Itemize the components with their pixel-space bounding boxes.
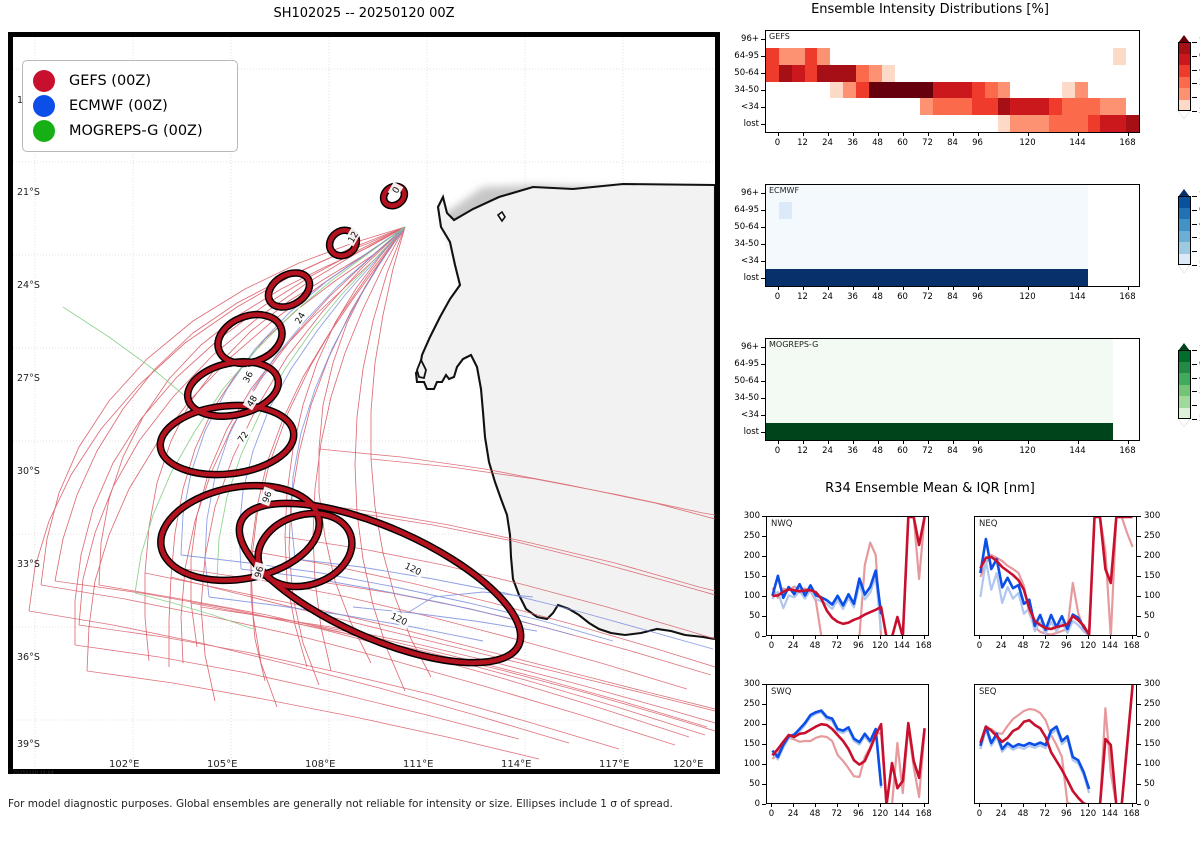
heatmap-cell: [895, 236, 908, 253]
r34-x-tick: [1110, 804, 1111, 807]
heatmap-cell: [1113, 115, 1126, 132]
colorbar-tick: [1192, 83, 1197, 84]
heatmap-cell: [998, 31, 1011, 48]
generation-timestamp: 20250120 14:04: [13, 771, 54, 776]
heatmap-x-tick: [1128, 287, 1129, 290]
heatmap-y-label: 50-64: [734, 222, 759, 232]
r34-x-label: 72: [1039, 641, 1050, 651]
heatmap-cell: [895, 219, 908, 236]
heatmap-cell: [1023, 65, 1036, 82]
r34-y-label: 250: [734, 699, 760, 709]
heatmap-cell: [895, 82, 908, 99]
heatmap-cell: [1062, 339, 1075, 356]
legend-label-ecmwf: ECMWF (00Z): [69, 98, 168, 114]
r34-y-label: 100: [1144, 759, 1160, 769]
heatmap-cell: [1126, 406, 1139, 423]
heatmap-cell: [1113, 406, 1126, 423]
legend-label-gefs: GEFS (00Z): [69, 73, 151, 89]
heatmap-y-tick: [761, 56, 765, 57]
colorbar-tick: [1192, 251, 1197, 252]
heatmap-plot-area[interactable]: MOGREPS-G: [765, 338, 1140, 441]
heatmap-cell: [1036, 48, 1049, 65]
r34-x-label: 96: [1061, 641, 1072, 651]
r34-panel-seq[interactable]: SEQ050100150200250300024487296120144168: [962, 676, 1187, 841]
r34-y-label: 300: [734, 679, 760, 689]
heatmap-cell: [907, 185, 920, 202]
heatmap-cell: [856, 406, 869, 423]
heatmap-cell: [907, 48, 920, 65]
heatmap-cell: [882, 390, 895, 407]
heatmap-cell: [1010, 356, 1023, 373]
heatmap-cell-grid: [766, 185, 1139, 286]
heatmap-cell: [1049, 115, 1062, 132]
heatmap-cell: [805, 423, 818, 440]
heatmap-cell: [959, 31, 972, 48]
heatmap-x-tick: [1078, 441, 1079, 444]
r34-x-label: 96: [1061, 809, 1072, 819]
colorbar-tick: [1192, 378, 1197, 379]
heatmap-cell: [830, 406, 843, 423]
heatmap-x-tick: [1028, 287, 1029, 290]
heatmap-cell: [959, 406, 972, 423]
heatmap-panel-gefs[interactable]: GEFS96+64-9550-6434-50<34lost01224364860…: [730, 28, 1190, 158]
heatmap-cell: [1126, 185, 1139, 202]
heatmap-colorbar: 51530456075: [1178, 36, 1200, 121]
heatmap-cell: [998, 65, 1011, 82]
heatmap-cell: [1126, 339, 1139, 356]
heatmap-cell: [869, 115, 882, 132]
heatmap-cell: [946, 236, 959, 253]
heatmap-cell: [1036, 269, 1049, 286]
heatmap-cell: [920, 48, 933, 65]
heatmap-cell: [1049, 236, 1062, 253]
r34-x-label: 120: [1080, 641, 1096, 651]
colorbar-tick: [1192, 42, 1197, 43]
r34-series-canvas: [767, 517, 929, 636]
heatmap-cell: [1010, 115, 1023, 132]
r34-quadrant-label: SWQ: [771, 687, 792, 697]
heatmap-x-label: 168: [1119, 446, 1135, 456]
heatmap-cell: [946, 390, 959, 407]
heatmap-cell: [1113, 219, 1126, 236]
heatmap-x-tick: [878, 441, 879, 444]
heatmap-cell: [817, 82, 830, 99]
colorbar-segment: [1178, 254, 1191, 266]
heatmap-cell: [1113, 236, 1126, 253]
heatmap-cell: [920, 236, 933, 253]
colorbar-segment: [1178, 88, 1191, 100]
r34-y-tick: [762, 704, 766, 705]
heatmap-plot-area[interactable]: ECMWF: [765, 184, 1140, 287]
heatmap-cell: [972, 202, 985, 219]
heatmap-y-label: 34-50: [734, 85, 759, 95]
heatmap-cell: [933, 390, 946, 407]
heatmap-cell: [959, 202, 972, 219]
heatmap-plot-area[interactable]: GEFS: [765, 30, 1140, 133]
r34-y-label: 200: [1144, 551, 1160, 561]
heatmap-cell: [998, 373, 1011, 390]
heatmap-cell: [1088, 390, 1101, 407]
r34-y-tick: [762, 684, 766, 685]
heatmap-cell: [1100, 269, 1113, 286]
r34-x-label: 24: [788, 641, 799, 651]
r34-x-label: 48: [1017, 809, 1028, 819]
lat-label-33s: 33°S: [17, 559, 40, 570]
heatmap-cell: [907, 339, 920, 356]
heatmap-panel-ecmwf[interactable]: ECMWF96+64-9550-6434-50<34lost0122436486…: [730, 182, 1190, 312]
heatmap-cell: [1126, 48, 1139, 65]
heatmap-x-label: 0: [775, 138, 780, 148]
r34-plot-area[interactable]: NEQ: [974, 516, 1137, 636]
heatmap-y-tick: [761, 124, 765, 125]
heatmap-cell: [1126, 98, 1139, 115]
heatmap-x-label: 144: [1069, 138, 1085, 148]
heatmap-cell: [817, 185, 830, 202]
r34-plot-area[interactable]: SEQ: [974, 684, 1137, 804]
heatmap-cell: [792, 236, 805, 253]
r34-series-line: [772, 711, 881, 786]
page-title: SH102025 -- 20250120 00Z: [0, 6, 728, 21]
r34-plot-area[interactable]: SWQ: [766, 684, 929, 804]
heatmap-cell: [1126, 219, 1139, 236]
r34-panel-swq[interactable]: SWQ050100150200250300024487296120144168: [732, 676, 957, 841]
heatmap-cell: [1113, 339, 1126, 356]
heatmap-cell: [933, 48, 946, 65]
r34-y-label: 300: [734, 511, 760, 521]
colorbar-tick: [1192, 210, 1197, 211]
r34-panel-nwq[interactable]: NWQ050100150200250300024487296120144168: [732, 508, 957, 673]
heatmap-cell: [895, 115, 908, 132]
heatmap-cell: [869, 423, 882, 440]
legend-item-gefs[interactable]: GEFS (00Z): [33, 68, 227, 93]
heatmap-cell: [1049, 65, 1062, 82]
heatmap-cell: [998, 423, 1011, 440]
heatmap-model-label: GEFS: [769, 32, 790, 41]
heatmap-cell: [817, 31, 830, 48]
heatmap-cell: [843, 269, 856, 286]
r34-series-line: [980, 517, 1132, 636]
heatmap-x-label: 36: [847, 446, 858, 456]
heatmap-cell: [779, 82, 792, 99]
heatmap-cell: [1062, 98, 1075, 115]
colorbar-tick: [1192, 237, 1197, 238]
heatmap-cell: [1062, 48, 1075, 65]
heatmap-cell: [1010, 31, 1023, 48]
heatmap-cell: [817, 219, 830, 236]
heatmap-cell: [1100, 252, 1113, 269]
heatmap-cell: [1100, 373, 1113, 390]
r34-y-tick: [762, 536, 766, 537]
heatmap-cell: [1075, 269, 1088, 286]
heatmap-y-label: <34: [741, 256, 759, 266]
heatmap-cell: [933, 252, 946, 269]
heatmap-cell: [895, 252, 908, 269]
heatmap-cell: [792, 31, 805, 48]
r34-quadrant-label: SEQ: [979, 687, 996, 697]
heatmap-cell: [1036, 406, 1049, 423]
heatmap-x-label: 96: [972, 446, 983, 456]
heatmap-cell: [946, 219, 959, 236]
heatmap-cell: [1113, 390, 1126, 407]
r34-x-tick: [793, 636, 794, 639]
heatmap-cell: [1023, 356, 1036, 373]
heatmap-cell: [792, 219, 805, 236]
heatmap-cell: [1088, 423, 1101, 440]
heatmap-cell: [817, 269, 830, 286]
heatmap-cell: [933, 219, 946, 236]
heatmap-cell: [882, 252, 895, 269]
heatmap-cell: [985, 406, 998, 423]
heatmap-cell: [985, 98, 998, 115]
heatmap-cell: [843, 185, 856, 202]
r34-y-label: 250: [734, 531, 760, 541]
lat-label-24s: 24°S: [17, 280, 40, 291]
heatmap-cell: [985, 115, 998, 132]
heatmap-cell: [817, 390, 830, 407]
heatmap-y-label: 64-95: [734, 359, 759, 369]
heatmap-cell: [817, 252, 830, 269]
heatmap-cell-grid: [766, 339, 1139, 440]
heatmap-cell: [882, 65, 895, 82]
heatmap-cell: [985, 236, 998, 253]
heatmap-cell: [1126, 82, 1139, 99]
heatmap-cell: [766, 202, 779, 219]
legend-item-mogreps[interactable]: MOGREPS-G (00Z): [33, 118, 227, 143]
heatmap-cell: [1049, 31, 1062, 48]
colorbar-under-arrow: [1178, 265, 1190, 273]
r34-y-label: 0: [1144, 799, 1149, 809]
heatmap-x-label: 36: [847, 138, 858, 148]
heatmap-cell: [920, 406, 933, 423]
heatmap-cell: [998, 202, 1011, 219]
heatmap-cell: [1113, 98, 1126, 115]
r34-y-tick: [762, 596, 766, 597]
heatmap-cell: [856, 98, 869, 115]
heatmap-cell: [830, 390, 843, 407]
heatmap-cell: [1036, 219, 1049, 236]
heatmap-cell: [1010, 423, 1023, 440]
heatmap-cell: [1088, 98, 1101, 115]
heatmap-cell: [985, 390, 998, 407]
r34-x-tick: [837, 804, 838, 807]
heatmap-cell: [805, 219, 818, 236]
heatmap-cell: [779, 269, 792, 286]
r34-x-label: 144: [1102, 641, 1118, 651]
heatmap-cell: [1049, 423, 1062, 440]
heatmap-cell: [1010, 185, 1023, 202]
heatmap-cell: [920, 185, 933, 202]
heatmap-cell: [869, 31, 882, 48]
heatmap-cell: [817, 236, 830, 253]
heatmap-cell: [1023, 406, 1036, 423]
heatmap-cell: [920, 373, 933, 390]
heatmap-x-label: 12: [797, 292, 808, 302]
r34-x-label: 72: [831, 809, 842, 819]
heatmap-cell: [1088, 269, 1101, 286]
r34-series-line: [980, 730, 1089, 793]
heatmap-panel-mogreps[interactable]: MOGREPS-G96+64-9550-6434-50<34lost012243…: [730, 336, 1190, 466]
r34-x-label: 24: [788, 809, 799, 819]
colorbar-segment: [1178, 231, 1191, 243]
heatmap-cell: [882, 219, 895, 236]
r34-x-tick: [1066, 636, 1067, 639]
heatmap-cell: [933, 269, 946, 286]
heatmap-x-label: 120: [1019, 292, 1035, 302]
heatmap-cell: [1088, 356, 1101, 373]
colorbar-segment: [1178, 77, 1191, 89]
heatmap-cell: [1023, 339, 1036, 356]
heatmap-cell: [972, 252, 985, 269]
heatmap-colorbar: 51530456075: [1178, 344, 1200, 429]
heatmap-cell: [1113, 252, 1126, 269]
heatmap-x-tick: [853, 287, 854, 290]
heatmap-cell: [972, 406, 985, 423]
heatmap-x-label: 72: [922, 446, 933, 456]
heatmap-cell: [946, 373, 959, 390]
colorbar-segment: [1178, 350, 1191, 362]
r34-panel-neq[interactable]: NEQ050100150200250300024487296120144168: [962, 508, 1187, 673]
heatmap-cell: [946, 65, 959, 82]
heatmap-cell: [830, 98, 843, 115]
heatmap-x-label: 24: [822, 446, 833, 456]
heatmap-cell: [1023, 236, 1036, 253]
heatmap-cell: [933, 115, 946, 132]
heatmap-cell: [1088, 202, 1101, 219]
heatmap-cell: [843, 65, 856, 82]
r34-x-tick: [1132, 804, 1133, 807]
heatmap-cell: [946, 31, 959, 48]
r34-series-line: [772, 712, 881, 788]
gefs-color-swatch: [33, 70, 55, 92]
heatmap-cell: [766, 48, 779, 65]
heatmap-cell: [895, 269, 908, 286]
heatmap-cell: [1036, 423, 1049, 440]
heatmap-x-label: 96: [972, 292, 983, 302]
heatmap-cell: [985, 423, 998, 440]
heatmap-cell: [882, 236, 895, 253]
heatmap-cell: [920, 31, 933, 48]
heatmap-cell: [1010, 252, 1023, 269]
heatmap-cell: [1100, 219, 1113, 236]
heatmap-cell: [985, 356, 998, 373]
heatmap-cell: [869, 339, 882, 356]
heatmap-cell: [830, 185, 843, 202]
r34-x-label: 48: [1017, 641, 1028, 651]
heatmap-cell: [1049, 373, 1062, 390]
heatmap-cell: [817, 356, 830, 373]
heatmap-cell: [830, 269, 843, 286]
heatmap-cell: [1126, 252, 1139, 269]
r34-y-label: 150: [734, 571, 760, 581]
r34-y-tick: [762, 784, 766, 785]
heatmap-cell: [895, 185, 908, 202]
heatmap-cell: [805, 31, 818, 48]
heatmap-cell: [805, 48, 818, 65]
heatmap-x-tick: [828, 287, 829, 290]
r34-quadrant-label: NWQ: [771, 519, 792, 529]
heatmap-cell: [856, 185, 869, 202]
heatmap-x-tick: [953, 441, 954, 444]
heatmap-cell: [856, 202, 869, 219]
heatmap-x-label: 72: [922, 292, 933, 302]
r34-x-tick: [924, 636, 925, 639]
heatmap-cell: [946, 202, 959, 219]
heatmap-cell: [1075, 48, 1088, 65]
colorbar-tick: [1192, 111, 1197, 112]
r34-x-tick: [1001, 636, 1002, 639]
heatmap-cell: [817, 406, 830, 423]
r34-y-label: 200: [734, 551, 760, 561]
heatmap-cell: [1088, 236, 1101, 253]
colorbar-segment: [1178, 362, 1191, 374]
heatmap-cell: [1075, 236, 1088, 253]
heatmap-cell: [920, 269, 933, 286]
r34-x-label: 72: [831, 641, 842, 651]
colorbar-tick: [1192, 56, 1197, 57]
heatmap-cell: [1100, 202, 1113, 219]
heatmap-cell: [946, 406, 959, 423]
heatmap-cell: [895, 390, 908, 407]
heatmap-cell: [1075, 373, 1088, 390]
heatmap-cell: [843, 339, 856, 356]
heatmap-cell: [882, 373, 895, 390]
heatmap-cell: [1010, 236, 1023, 253]
heatmap-colorbar: 51530456075: [1178, 190, 1200, 275]
heatmap-cell: [1113, 31, 1126, 48]
r34-plot-area[interactable]: NWQ: [766, 516, 929, 636]
heatmap-cell: [882, 269, 895, 286]
heatmap-cell: [985, 185, 998, 202]
heatmap-cell: [933, 31, 946, 48]
r34-x-label: 168: [915, 809, 931, 819]
r34-y-label: 250: [1144, 699, 1160, 709]
heatmap-cell: [959, 390, 972, 407]
heatmap-cell: [1010, 406, 1023, 423]
heatmap-cell: [1010, 98, 1023, 115]
heatmap-cell: [920, 202, 933, 219]
heatmap-cell: [856, 31, 869, 48]
heatmap-cell: [817, 48, 830, 65]
colorbar-gradient: [1178, 196, 1191, 265]
heatmap-y-label: lost: [744, 273, 759, 283]
heatmap-cell: [1062, 252, 1075, 269]
lat-label-39s: 39°S: [17, 739, 40, 750]
heatmap-cell: [1126, 202, 1139, 219]
heatmap-cell: [1113, 373, 1126, 390]
heatmap-cell: [1088, 339, 1101, 356]
heatmap-cell: [1010, 390, 1023, 407]
heatmap-cell: [1036, 236, 1049, 253]
r34-x-tick: [880, 636, 881, 639]
r34-y-tick: [1137, 784, 1141, 785]
lat-label-30s: 30°S: [17, 466, 40, 477]
heatmap-cell: [1023, 115, 1036, 132]
legend-item-ecmwf[interactable]: ECMWF (00Z): [33, 93, 227, 118]
heatmap-x-tick: [1078, 287, 1079, 290]
heatmap-y-tick: [761, 107, 765, 108]
r34-y-label: 300: [1144, 679, 1160, 689]
heatmap-cell: [1023, 98, 1036, 115]
heatmap-cell: [959, 219, 972, 236]
heatmap-cell: [1062, 373, 1075, 390]
heatmap-cell: [972, 48, 985, 65]
heatmap-y-label: 96+: [741, 188, 759, 198]
heatmap-cell: [1036, 82, 1049, 99]
heatmap-cell: [766, 406, 779, 423]
r34-x-tick: [771, 804, 772, 807]
colorbar-segment: [1178, 42, 1191, 54]
heatmap-cell: [1100, 423, 1113, 440]
